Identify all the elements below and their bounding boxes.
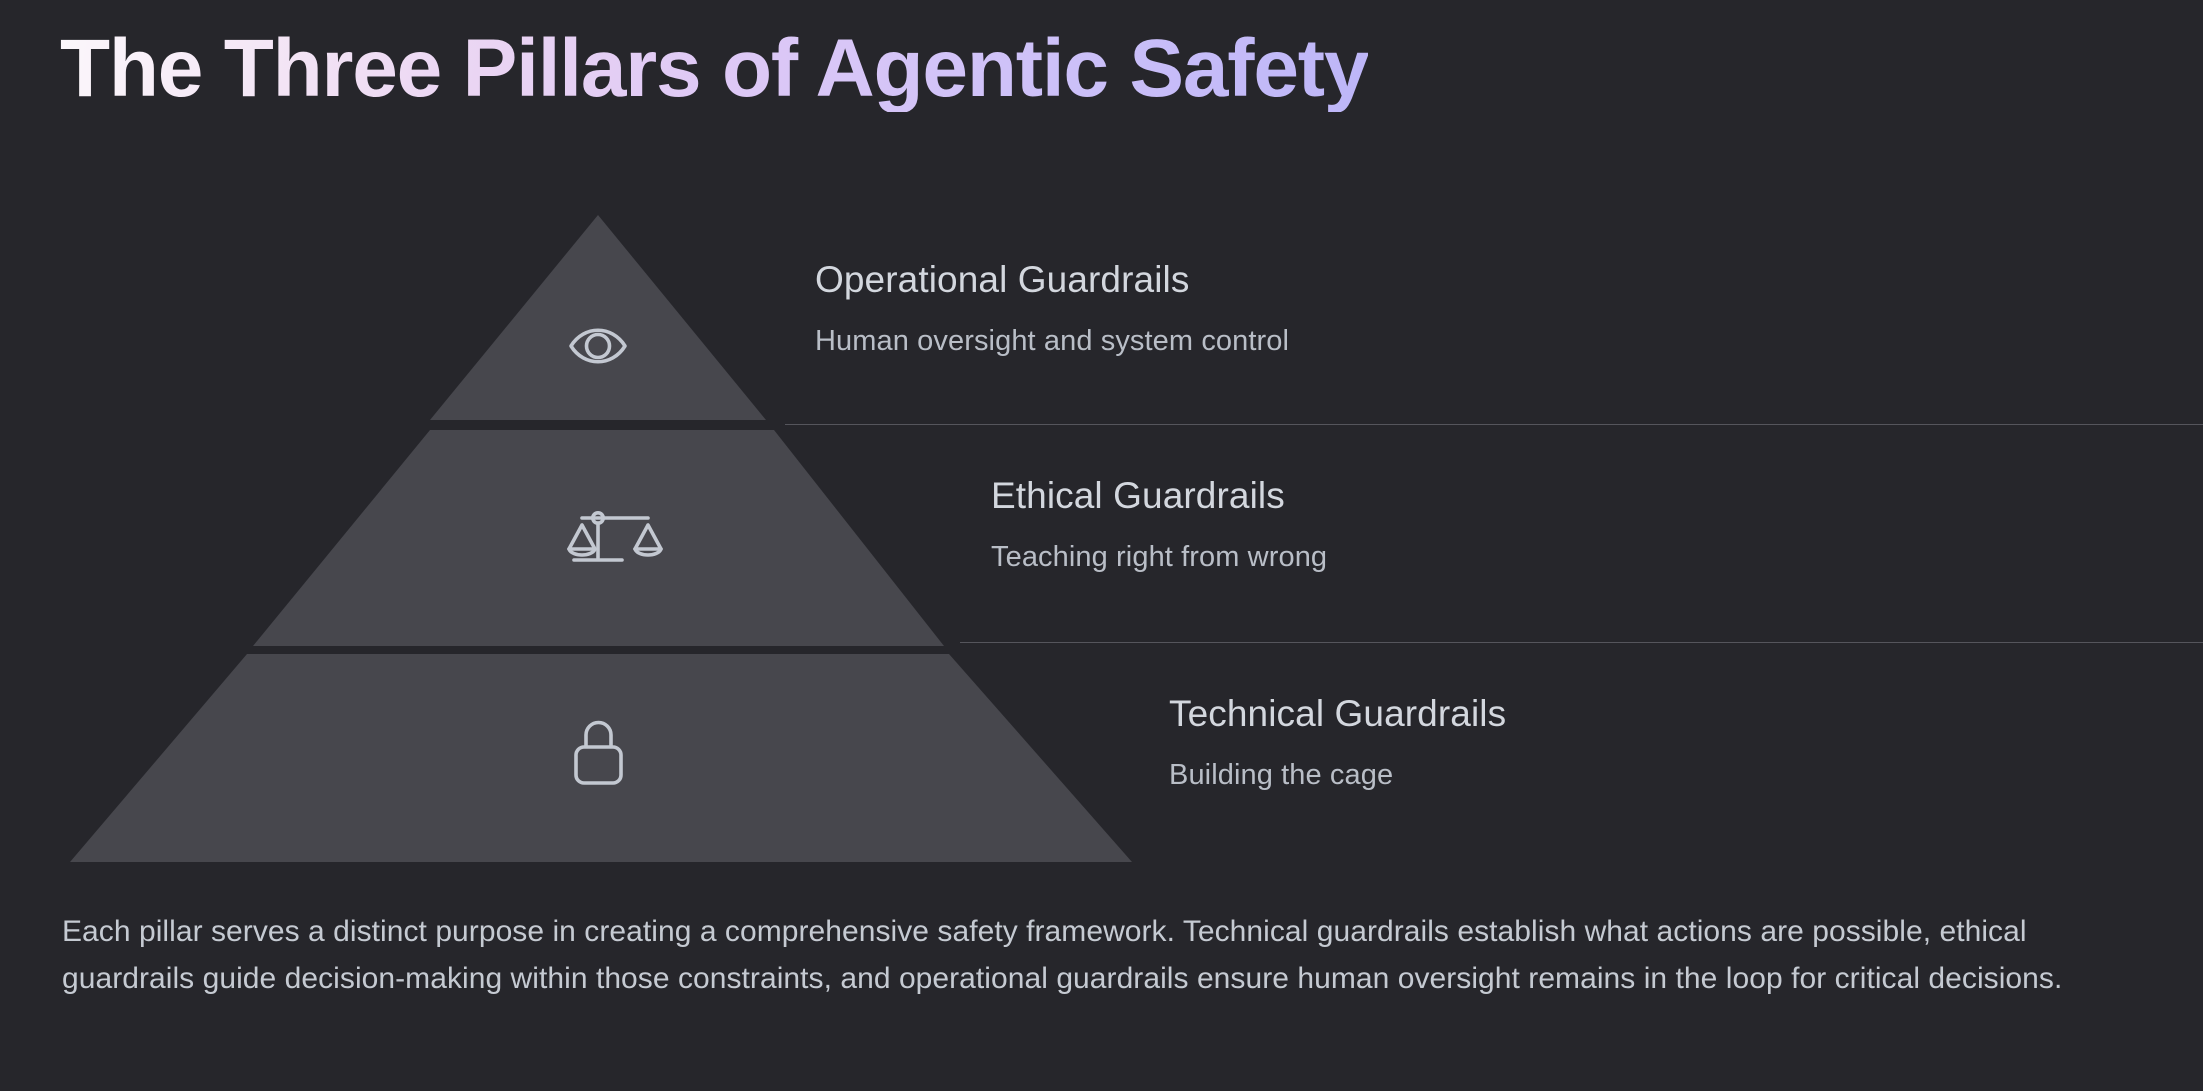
page-title: The Three Pillars of Agentic Safety — [60, 26, 1368, 112]
pyramid-infographic-page: The Three Pillars of Agentic Safety — [0, 0, 2203, 1091]
tier-subtitle-technical: Building the cage — [1169, 758, 1506, 793]
tier-text-technical: Technical Guardrails Building the cage — [1169, 692, 1506, 793]
tier-title-technical: Technical Guardrails — [1169, 692, 1506, 736]
pyramid-tier-technical — [70, 654, 1132, 862]
tier-text-ethical: Ethical Guardrails Teaching right from w… — [991, 474, 1327, 575]
tier-subtitle-operational: Human oversight and system control — [815, 324, 1289, 359]
tier-title-operational: Operational Guardrails — [815, 258, 1289, 302]
tier-divider-ethical — [960, 642, 2203, 643]
tier-title-ethical: Ethical Guardrails — [991, 474, 1327, 518]
tier-subtitle-ethical: Teaching right from wrong — [991, 540, 1327, 575]
scales-icon — [569, 513, 661, 560]
lock-icon — [576, 723, 621, 784]
eye-icon — [571, 330, 625, 362]
tier-text-operational: Operational Guardrails Human oversight a… — [815, 258, 1289, 359]
pyramid-tier-ethical — [253, 430, 944, 646]
summary-paragraph: Each pillar serves a distinct purpose in… — [62, 908, 2134, 1003]
tier-divider-operational — [785, 424, 2203, 425]
pyramid-tier-operational — [430, 215, 766, 420]
